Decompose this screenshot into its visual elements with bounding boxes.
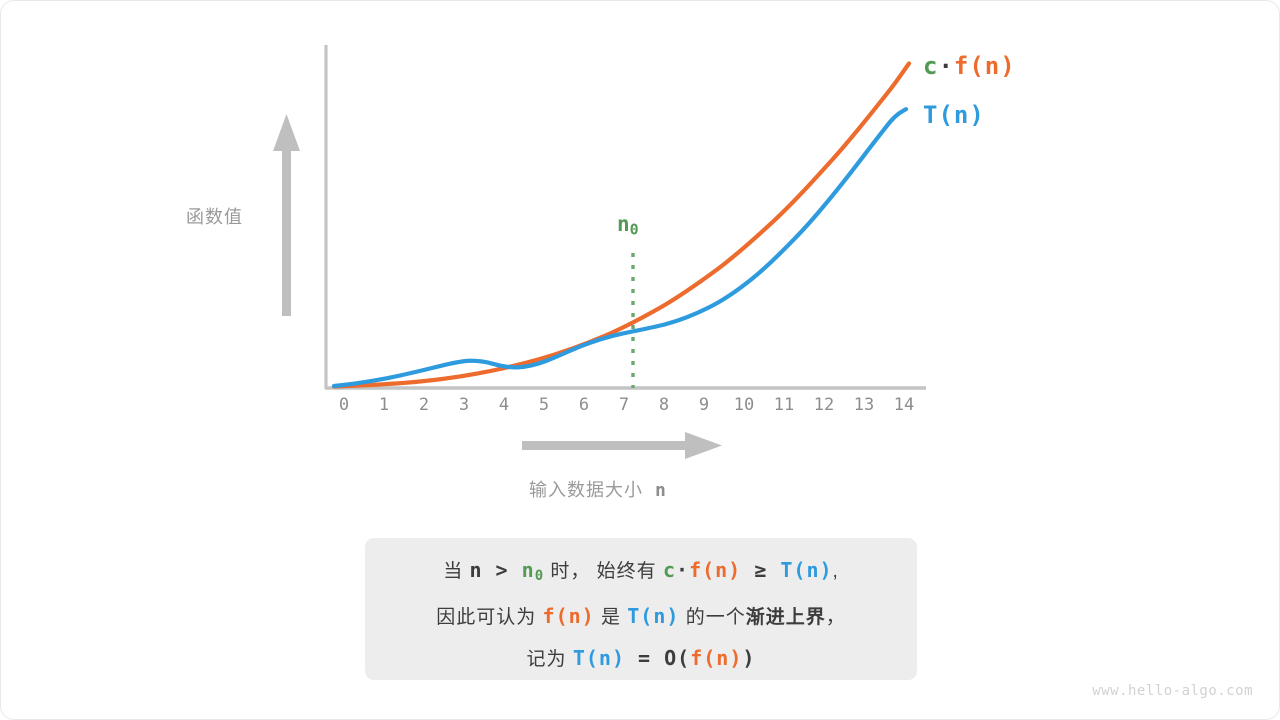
x-tick-5: 5 bbox=[524, 395, 564, 415]
n0-base: n bbox=[617, 212, 630, 236]
cap2-tn: T(n) bbox=[627, 604, 679, 628]
caption-line-1: 当 n > n0 时， 始终有 c·f(n) ≥ T(n), bbox=[365, 550, 917, 596]
cap2-a: 因此可认为 bbox=[436, 607, 542, 628]
x-axis-label-var: n bbox=[655, 480, 667, 501]
x-axis-label-text: 输入数据大小 bbox=[529, 480, 643, 500]
legend-c-coefficient: c bbox=[923, 52, 938, 80]
x-tick-2: 2 bbox=[404, 395, 444, 415]
cap2-bold-term: 渐进上界 bbox=[746, 607, 826, 628]
y-axis-label: 函数值 bbox=[186, 203, 243, 229]
caption-line-3: 记为 T(n) = O(f(n)) bbox=[365, 638, 917, 680]
x-tick-1: 1 bbox=[364, 395, 404, 415]
x-tick-6: 6 bbox=[564, 395, 604, 415]
cap1-gt: > bbox=[483, 558, 522, 582]
cap1-a: 当 bbox=[443, 561, 469, 582]
x-tick-4: 4 bbox=[484, 395, 524, 415]
cap3-tn: T(n) bbox=[573, 646, 625, 670]
x-tick-0: 0 bbox=[324, 395, 364, 415]
cap3-a: 记为 bbox=[527, 649, 573, 670]
x-tick-9: 9 bbox=[684, 395, 724, 415]
cap1-end: , bbox=[833, 561, 839, 582]
legend-item-t-n: T(n) bbox=[923, 101, 985, 129]
watermark: www.hello-algo.com bbox=[1092, 683, 1253, 699]
cap1-n0-sub: 0 bbox=[535, 568, 544, 584]
x-direction-arrow bbox=[522, 432, 722, 459]
legend-t-n-label: T(n) bbox=[923, 101, 985, 129]
cap2-end: ， bbox=[826, 607, 846, 628]
n0-subscript: 0 bbox=[630, 220, 639, 238]
cap3-big-o: O( bbox=[664, 646, 690, 670]
caption-line-2: 因此可认为 f(n) 是 T(n) 的一个渐进上界， bbox=[365, 596, 917, 638]
x-tick-7: 7 bbox=[604, 395, 644, 415]
x-axis-label: 输入数据大小 n bbox=[529, 476, 667, 502]
cap3-eq: = bbox=[625, 646, 664, 670]
cap1-ge: ≥ bbox=[741, 558, 780, 582]
cap1-c: 时， 始终有 bbox=[544, 561, 663, 582]
x-tick-8: 8 bbox=[644, 395, 684, 415]
n0-annotation-label: n0 bbox=[617, 212, 639, 238]
cap1-fn: f(n) bbox=[689, 558, 741, 582]
cap1-tn: T(n) bbox=[780, 558, 832, 582]
x-tick-13: 13 bbox=[844, 395, 884, 415]
legend-item-c-f-n: c·f(n) bbox=[923, 52, 1016, 80]
y-direction-arrow bbox=[273, 114, 300, 316]
cap2-fn: f(n) bbox=[543, 604, 595, 628]
cap1-cvar: c bbox=[663, 558, 676, 582]
x-tick-11: 11 bbox=[764, 395, 804, 415]
x-tick-14: 14 bbox=[884, 395, 924, 415]
legend-f-n-label: f(n) bbox=[954, 52, 1016, 80]
cap2-c: 的一个 bbox=[679, 607, 745, 628]
figure-canvas: 0 1 2 3 4 5 6 7 8 9 10 11 12 13 14 函数值 输… bbox=[0, 0, 1280, 720]
caption-box: 当 n > n0 时， 始终有 c·f(n) ≥ T(n), 因此可认为 f(n… bbox=[365, 538, 917, 680]
cap1-dot: · bbox=[676, 558, 689, 582]
cap1-n0: n0 bbox=[522, 558, 544, 582]
cap3-close-paren: ) bbox=[742, 646, 755, 670]
legend-multiply-dot: · bbox=[938, 52, 953, 80]
cap1-n: n bbox=[469, 558, 482, 582]
curve-t-n bbox=[334, 109, 906, 386]
x-tick-12: 12 bbox=[804, 395, 844, 415]
cap2-b: 是 bbox=[595, 607, 628, 628]
cap3-fn: f(n) bbox=[690, 646, 742, 670]
x-tick-10: 10 bbox=[724, 395, 764, 415]
x-tick-labels: 0 1 2 3 4 5 6 7 8 9 10 11 12 13 14 bbox=[325, 395, 925, 421]
x-tick-3: 3 bbox=[444, 395, 484, 415]
cap1-n0-base: n bbox=[522, 558, 535, 582]
